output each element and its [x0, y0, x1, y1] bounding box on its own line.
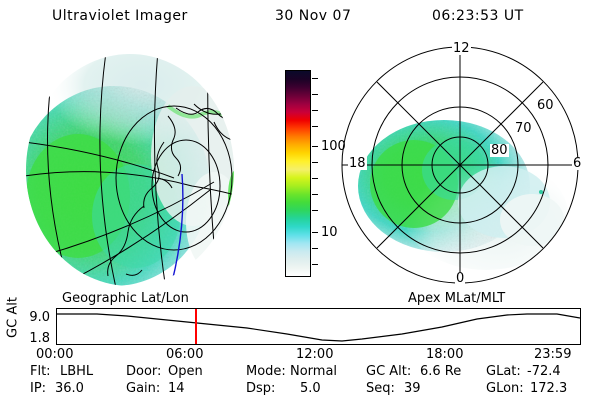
gcalt-value: 6.6 Re	[420, 364, 461, 379]
strip-plot-axes	[56, 308, 581, 345]
strip-x-tick-0: 00:00	[36, 348, 73, 361]
seq-value: 39	[404, 381, 421, 396]
mode-label: Mode:	[246, 364, 286, 379]
glat-value: -72.4	[527, 364, 561, 379]
colorbar-tick	[312, 162, 318, 163]
instrument-title: Ultraviolet Imager	[52, 8, 188, 24]
gc-altitude-trace	[57, 309, 580, 344]
geographic-globe	[18, 46, 270, 294]
colorbar-tick	[312, 178, 318, 179]
dsp-label: Dsp:	[246, 381, 275, 396]
colorbar-tick	[312, 248, 318, 249]
header-bar: Ultraviolet Imager 30 Nov 07 06:23:53 UT	[0, 8, 600, 30]
gcalt-label-f: GC Alt:	[366, 364, 411, 379]
glon-value: 172.3	[530, 381, 567, 396]
strip-x-tick-3: 18:00	[426, 348, 463, 361]
glon-label: GLon:	[486, 381, 524, 396]
colorbar-tick	[312, 78, 318, 79]
door-label: Door:	[126, 364, 161, 379]
status-footer: Flt: LBHL Door: Open Mode: Normal GC Alt…	[0, 364, 600, 400]
observation-time: 06:23:53 UT	[432, 8, 524, 24]
polar-label-mlt-0: 0	[455, 272, 465, 285]
flt-label: Flt:	[30, 364, 51, 379]
ip-label: IP:	[30, 381, 46, 396]
colorbar-tick-major	[312, 146, 318, 147]
strip-y-tick-bottom: 1.8	[16, 332, 50, 345]
colorbar-tick	[312, 94, 318, 95]
gain-value: 14	[168, 381, 185, 396]
polar-label-mlt-12: 12	[452, 42, 471, 55]
mode-value: Normal	[290, 364, 337, 379]
door-value: Open	[168, 364, 203, 379]
strip-x-tick-4: 23:59	[534, 348, 571, 361]
observation-date: 30 Nov 07	[275, 8, 351, 24]
colorbar-tick	[312, 210, 318, 211]
gain-label: Gain:	[126, 381, 160, 396]
colorbar-tick	[312, 126, 318, 127]
polar-plot-panel[interactable]: 12 18 6 0 60 70 80	[336, 44, 586, 294]
ip-value: 36.0	[55, 381, 84, 396]
polar-label-mlt-18: 18	[348, 157, 367, 170]
colorbar-tick	[312, 194, 318, 195]
colorbar-tick-major	[312, 232, 318, 233]
seq-label: Seq:	[366, 381, 395, 396]
strip-y-tick-top: 9.0	[16, 311, 50, 324]
strip-x-tick-2: 12:00	[296, 348, 333, 361]
polar-label-lat-80: 80	[490, 144, 509, 157]
polar-label-lat-60: 60	[536, 99, 555, 112]
geographic-image-panel[interactable]	[18, 46, 270, 294]
colorbar-scale	[285, 70, 311, 277]
orbit-altitude-strip-panel[interactable]: GC Alt 9.0 1.8 00:00 06:00 12:00 18:00 2…	[0, 296, 600, 358]
dsp-value: 5.0	[300, 381, 321, 396]
flt-value: LBHL	[60, 364, 93, 379]
polar-label-mlt-6: 6	[572, 157, 582, 170]
strip-x-tick-1: 06:00	[166, 348, 203, 361]
colorbar-tick	[312, 110, 318, 111]
glat-label: GLat:	[486, 364, 521, 379]
colorbar-tick	[312, 264, 318, 265]
polar-label-lat-70: 70	[514, 122, 533, 135]
colorbar-gradient	[286, 71, 310, 276]
time-cursor[interactable]	[195, 309, 197, 344]
apex-polar-grid	[336, 44, 586, 294]
